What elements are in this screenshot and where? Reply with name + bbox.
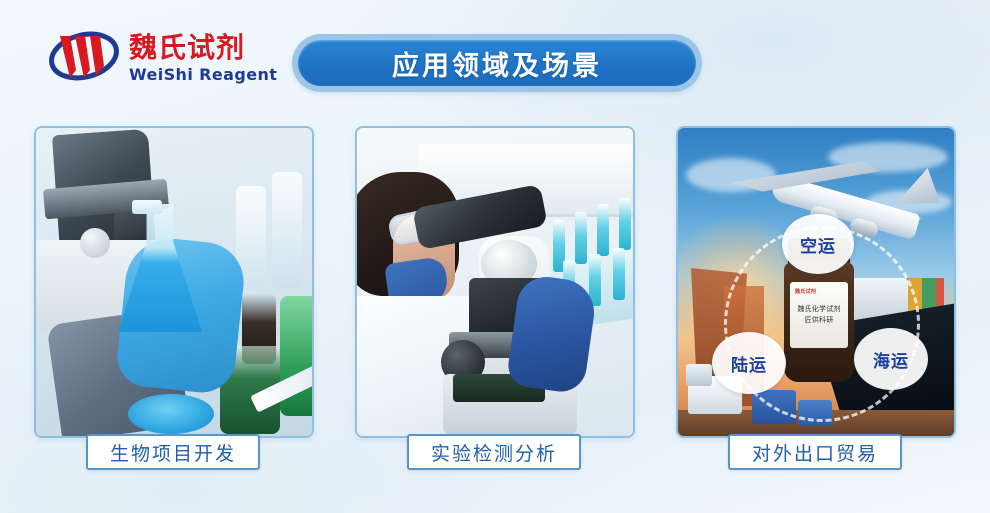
bottle-label: 魏氏试剂 魏氏化学试剂 匠供科研 <box>790 282 848 348</box>
application-cards: 魏氏试剂 魏氏化学试剂 匠供科研 空运 陆运 海运 <box>0 126 990 476</box>
badge-land-freight: 陆运 <box>712 332 786 394</box>
card-lab-testing-analysis[interactable] <box>355 126 635 438</box>
page-title: 应用领域及场景 <box>392 44 602 83</box>
glass-tube-shape <box>272 172 302 288</box>
bottle-label-line-2: 匠供科研 <box>805 316 834 325</box>
card-export-trade[interactable]: 魏氏试剂 魏氏化学试剂 匠供科研 空运 陆运 海运 <box>676 126 956 438</box>
brand-name-en: WeiShi Reagent <box>129 67 277 83</box>
petri-dish-shape <box>128 394 214 434</box>
badge-sea-freight: 海运 <box>854 328 928 390</box>
airplane-tail-fin-shape <box>896 168 940 204</box>
bottle-brand-mark: 魏氏试剂 <box>795 288 816 295</box>
title-banner-inner: 应用领域及场景 <box>298 40 696 86</box>
flask-cap-shape <box>132 200 162 214</box>
test-tube-shape <box>613 248 625 300</box>
slide-canvas: 魏氏试剂 WeiShi Reagent 应用领域及场景 <box>0 0 990 513</box>
photo-bio-project-development <box>36 128 312 436</box>
cargo-truck-cab-shape <box>686 364 712 386</box>
photo-export-trade: 魏氏试剂 魏氏化学试剂 匠供科研 空运 陆运 海运 <box>678 128 954 436</box>
brand-logo-text: 魏氏试剂 WeiShi Reagent <box>129 32 277 83</box>
brand-logo: 魏氏试剂 WeiShi Reagent <box>48 26 277 88</box>
caption-text: 实验检测分析 <box>431 439 557 466</box>
caption-export-trade: 对外出口贸易 <box>728 434 902 470</box>
photo-lab-testing-analysis <box>357 128 633 436</box>
caption-lab-testing-analysis: 实验检测分析 <box>407 434 581 470</box>
microscope-knob-shape <box>80 228 110 258</box>
brand-name-cn: 魏氏试剂 <box>129 34 277 62</box>
caption-text: 生物项目开发 <box>110 439 236 466</box>
bottle-label-line-1: 魏氏化学试剂 <box>797 305 840 314</box>
weishi-w-logo-icon <box>48 26 120 88</box>
caption-bio-project-development: 生物项目开发 <box>86 434 260 470</box>
card-bio-project-development[interactable] <box>34 126 314 438</box>
caption-text: 对外出口贸易 <box>752 439 878 466</box>
test-tube-shape <box>597 204 609 256</box>
blue-glove-shape <box>506 273 599 395</box>
title-banner: 应用领域及场景 <box>292 34 702 92</box>
test-tube-shape <box>619 198 631 250</box>
test-tube-shape <box>575 212 587 264</box>
badge-air-freight: 空运 <box>782 214 854 274</box>
